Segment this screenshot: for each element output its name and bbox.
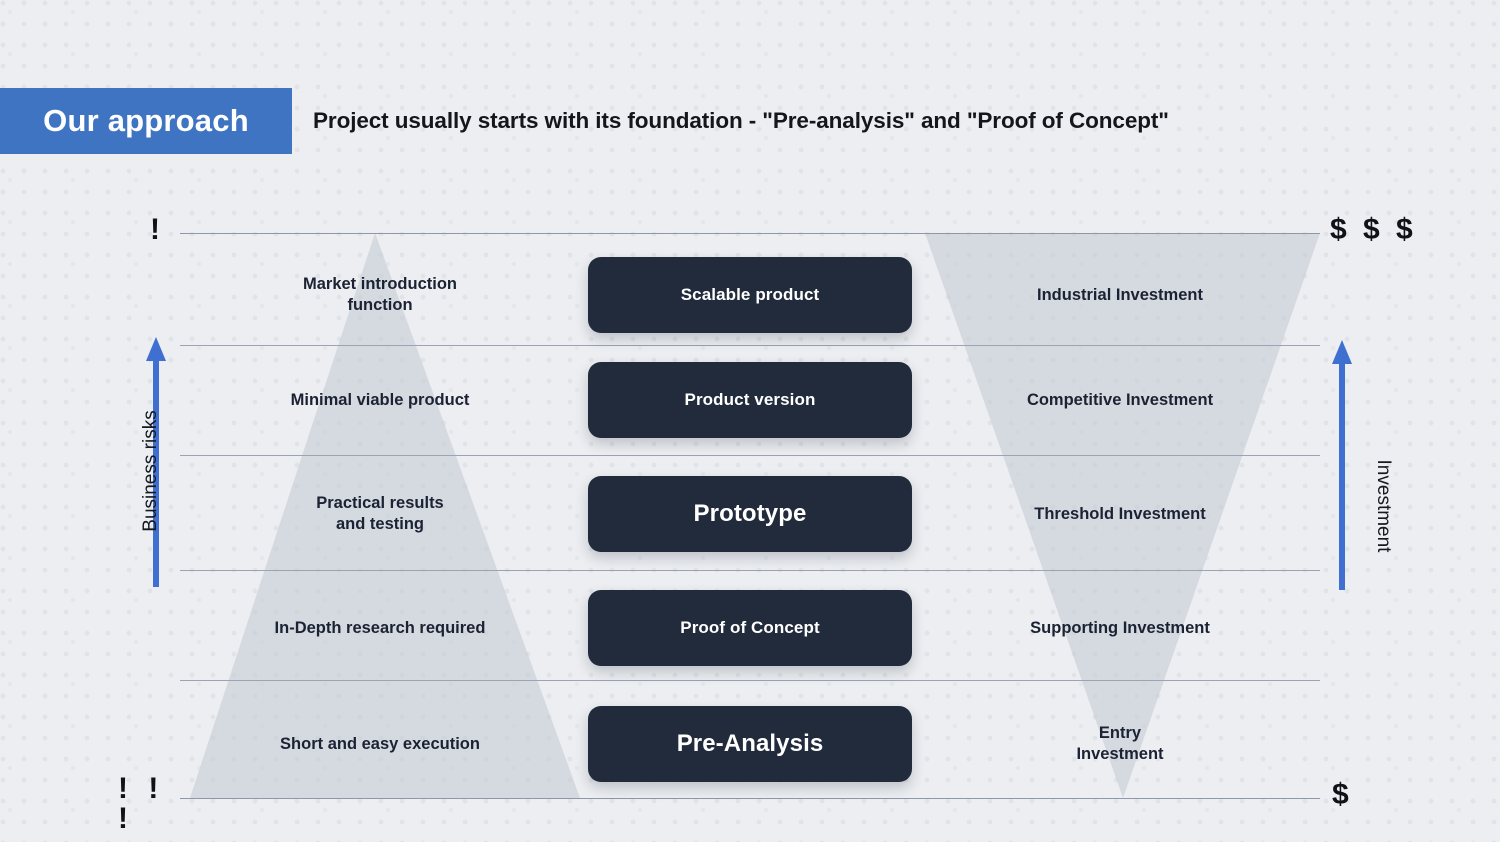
- risk-label-line-2: function: [180, 295, 580, 316]
- risk-low-marker: ! ! !: [118, 774, 188, 834]
- stage-row-proof-of-concept: In-Depth research required Proof of Conc…: [180, 576, 1320, 680]
- investment-label-line-1: Supporting Investment: [920, 618, 1320, 639]
- risk-high-marker: !: [150, 215, 160, 245]
- stage-box-wrapper: Product version: [580, 362, 920, 438]
- investment-label-line-1: Competitive Investment: [920, 390, 1320, 411]
- risk-label-proof-of-concept: In-Depth research required: [180, 618, 580, 639]
- stage-row-product-version: Minimal viable product Product version C…: [180, 348, 1320, 452]
- stage-box-scalable-product[interactable]: Scalable product: [588, 257, 912, 333]
- investment-low-marker: $: [1332, 780, 1349, 810]
- investment-label-line-1: Entry: [920, 723, 1320, 744]
- divider-line-1: [180, 345, 1320, 346]
- stage-row-pre-analysis: Short and easy execution Pre-Analysis En…: [180, 690, 1320, 798]
- investment-label-line-1: Industrial Investment: [920, 285, 1320, 306]
- divider-line-top: [180, 233, 1320, 234]
- risk-label-pre-analysis: Short and easy execution: [180, 734, 580, 755]
- risk-label-line-1: Market introduction: [180, 274, 580, 295]
- risk-label-line-1: Minimal viable product: [180, 390, 580, 411]
- investment-up-arrow-icon: [1332, 338, 1352, 598]
- risk-label-line-1: Short and easy execution: [180, 734, 580, 755]
- stage-box-proof-of-concept[interactable]: Proof of Concept: [588, 590, 912, 666]
- our-approach-badge-label: Our approach: [43, 103, 249, 139]
- business-risks-axis-label: Business risks: [140, 386, 162, 556]
- divider-line-bottom: [180, 798, 1320, 799]
- stage-box-wrapper: Scalable product: [580, 257, 920, 333]
- risk-label-line-1: Practical results: [180, 493, 580, 514]
- investment-label-entry: Entry Investment: [920, 723, 1320, 764]
- divider-line-4: [180, 680, 1320, 681]
- investment-label-threshold: Threshold Investment: [920, 504, 1320, 525]
- investment-label-supporting: Supporting Investment: [920, 618, 1320, 639]
- stage-row-scalable-product: Market introduction function Scalable pr…: [180, 245, 1320, 345]
- business-risks-axis: ! Business risks ! ! !: [118, 210, 188, 830]
- stage-box-product-version[interactable]: Product version: [588, 362, 912, 438]
- investment-label-line-2: Investment: [920, 744, 1320, 765]
- investment-axis-label: Investment: [1372, 421, 1394, 591]
- stage-box-wrapper: Pre-Analysis: [580, 706, 920, 782]
- our-approach-badge: Our approach: [0, 88, 292, 154]
- page-header: Our approach Project usually starts with…: [0, 88, 1500, 154]
- investment-label-competitive: Competitive Investment: [920, 390, 1320, 411]
- investment-label-industrial: Industrial Investment: [920, 285, 1320, 306]
- risk-label-line-2: and testing: [180, 514, 580, 535]
- stage-box-pre-analysis[interactable]: Pre-Analysis: [588, 706, 912, 782]
- stage-row-prototype: Practical results and testing Prototype …: [180, 460, 1320, 568]
- risk-label-line-1: In-Depth research required: [180, 618, 580, 639]
- stage-box-wrapper: Prototype: [580, 476, 920, 552]
- risk-label-scalable-product: Market introduction function: [180, 274, 580, 315]
- divider-line-3: [180, 570, 1320, 571]
- divider-line-2: [180, 455, 1320, 456]
- stage-box-wrapper: Proof of Concept: [580, 590, 920, 666]
- investment-axis: $ $ $ Investment $: [1318, 210, 1438, 830]
- risk-label-prototype: Practical results and testing: [180, 493, 580, 534]
- stage-box-prototype[interactable]: Prototype: [588, 476, 912, 552]
- risk-label-product-version: Minimal viable product: [180, 390, 580, 411]
- investment-high-marker: $ $ $: [1330, 215, 1417, 245]
- page-subtitle: Project usually starts with its foundati…: [292, 88, 1500, 154]
- investment-label-line-1: Threshold Investment: [920, 504, 1320, 525]
